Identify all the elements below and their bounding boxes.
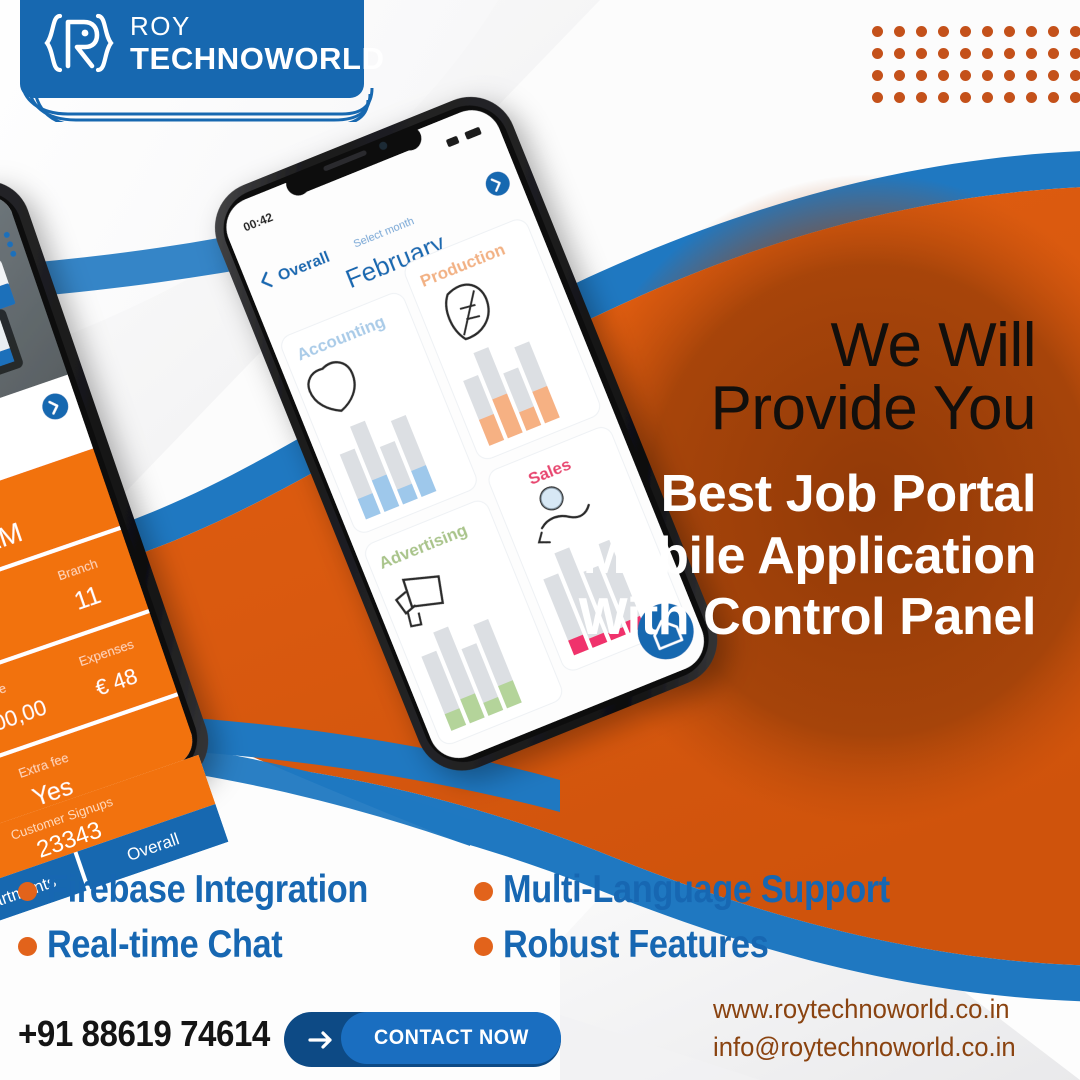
feature-item: Robust Features: [474, 917, 943, 972]
dot: [916, 48, 927, 59]
dot: [1026, 48, 1037, 59]
dot: [1026, 26, 1037, 37]
feature-label: Robust Features: [503, 923, 769, 967]
dot: [916, 26, 927, 37]
dot: [1070, 48, 1080, 59]
feature-label: Real-time Chat: [47, 923, 282, 967]
contact-now-button[interactable]: CONTACT NOW: [284, 1012, 561, 1067]
cta-label: CONTACT NOW: [374, 1026, 529, 1050]
bullet-icon: [474, 882, 493, 901]
dot: [1026, 92, 1037, 103]
bullet-icon: [474, 937, 493, 956]
phone-number[interactable]: +91 88619 74614: [18, 1013, 270, 1055]
feature-item: Real-time Chat: [18, 917, 468, 972]
email-address[interactable]: info@roytechnoworld.co.in: [713, 1028, 1016, 1066]
dot: [1048, 92, 1059, 103]
kicker-line-1: We Will: [579, 314, 1036, 377]
dot: [1070, 26, 1080, 37]
cta-front-pill[interactable]: CONTACT NOW: [341, 1012, 561, 1064]
dot: [872, 26, 883, 37]
dot: [916, 92, 927, 103]
dot: [916, 70, 927, 81]
dot: [982, 70, 993, 81]
dot: [1004, 48, 1015, 59]
dot: [938, 92, 949, 103]
dot: [1026, 70, 1037, 81]
bullet-icon: [18, 937, 37, 956]
dot: [982, 48, 993, 59]
dot: [1004, 92, 1015, 103]
dot: [894, 48, 905, 59]
dot: [1070, 92, 1080, 103]
dot: [894, 92, 905, 103]
dot: [960, 26, 971, 37]
dot: [1004, 26, 1015, 37]
kicker-line-2: Provide You: [579, 377, 1036, 440]
dot: [938, 70, 949, 81]
dot: [872, 92, 883, 103]
feature-list: Firebase Integration Multi-Language Supp…: [18, 862, 943, 972]
dot: [938, 48, 949, 59]
dot: [1048, 48, 1059, 59]
bullet-icon: [18, 882, 37, 901]
dot: [1004, 70, 1015, 81]
dot: [872, 70, 883, 81]
arrow-right-icon: [306, 1025, 336, 1055]
brand-line1: ROY: [130, 13, 385, 39]
website-url[interactable]: www.roytechnoworld.co.in: [713, 990, 1016, 1028]
r-monogram-braces-icon: [42, 10, 116, 76]
dot: [982, 26, 993, 37]
brand-logo-badge[interactable]: ROY TECHNOWORLD: [20, 0, 364, 98]
dot: [872, 48, 883, 59]
dot: [960, 70, 971, 81]
feature-item: Firebase Integration: [18, 862, 468, 917]
dot: [1070, 70, 1080, 81]
headline-line-1: Best Job Portal: [579, 464, 1036, 525]
feature-item: Multi-Language Support: [474, 862, 943, 917]
feature-label: Multi-Language Support: [503, 868, 890, 912]
contact-info: www.roytechnoworld.co.in info@roytechnow…: [713, 990, 1032, 1067]
headline-block: We Will Provide You Best Job Portal Mobi…: [579, 314, 1036, 649]
dot: [982, 92, 993, 103]
dot: [894, 70, 905, 81]
brand-line2: TECHNOWORLD: [130, 43, 385, 74]
headline-line-3: With Control Panel: [579, 587, 1036, 648]
headline-line-2: Mobile Application: [579, 526, 1036, 587]
dot-grid-decoration: [872, 26, 1080, 114]
poster-canvas: Status Check Select month January Branch…: [0, 0, 1080, 1080]
dot: [960, 48, 971, 59]
dot: [1048, 70, 1059, 81]
dot: [894, 26, 905, 37]
feature-label: Firebase Integration: [47, 868, 368, 912]
dot: [938, 26, 949, 37]
dot: [1048, 26, 1059, 37]
dot: [960, 92, 971, 103]
